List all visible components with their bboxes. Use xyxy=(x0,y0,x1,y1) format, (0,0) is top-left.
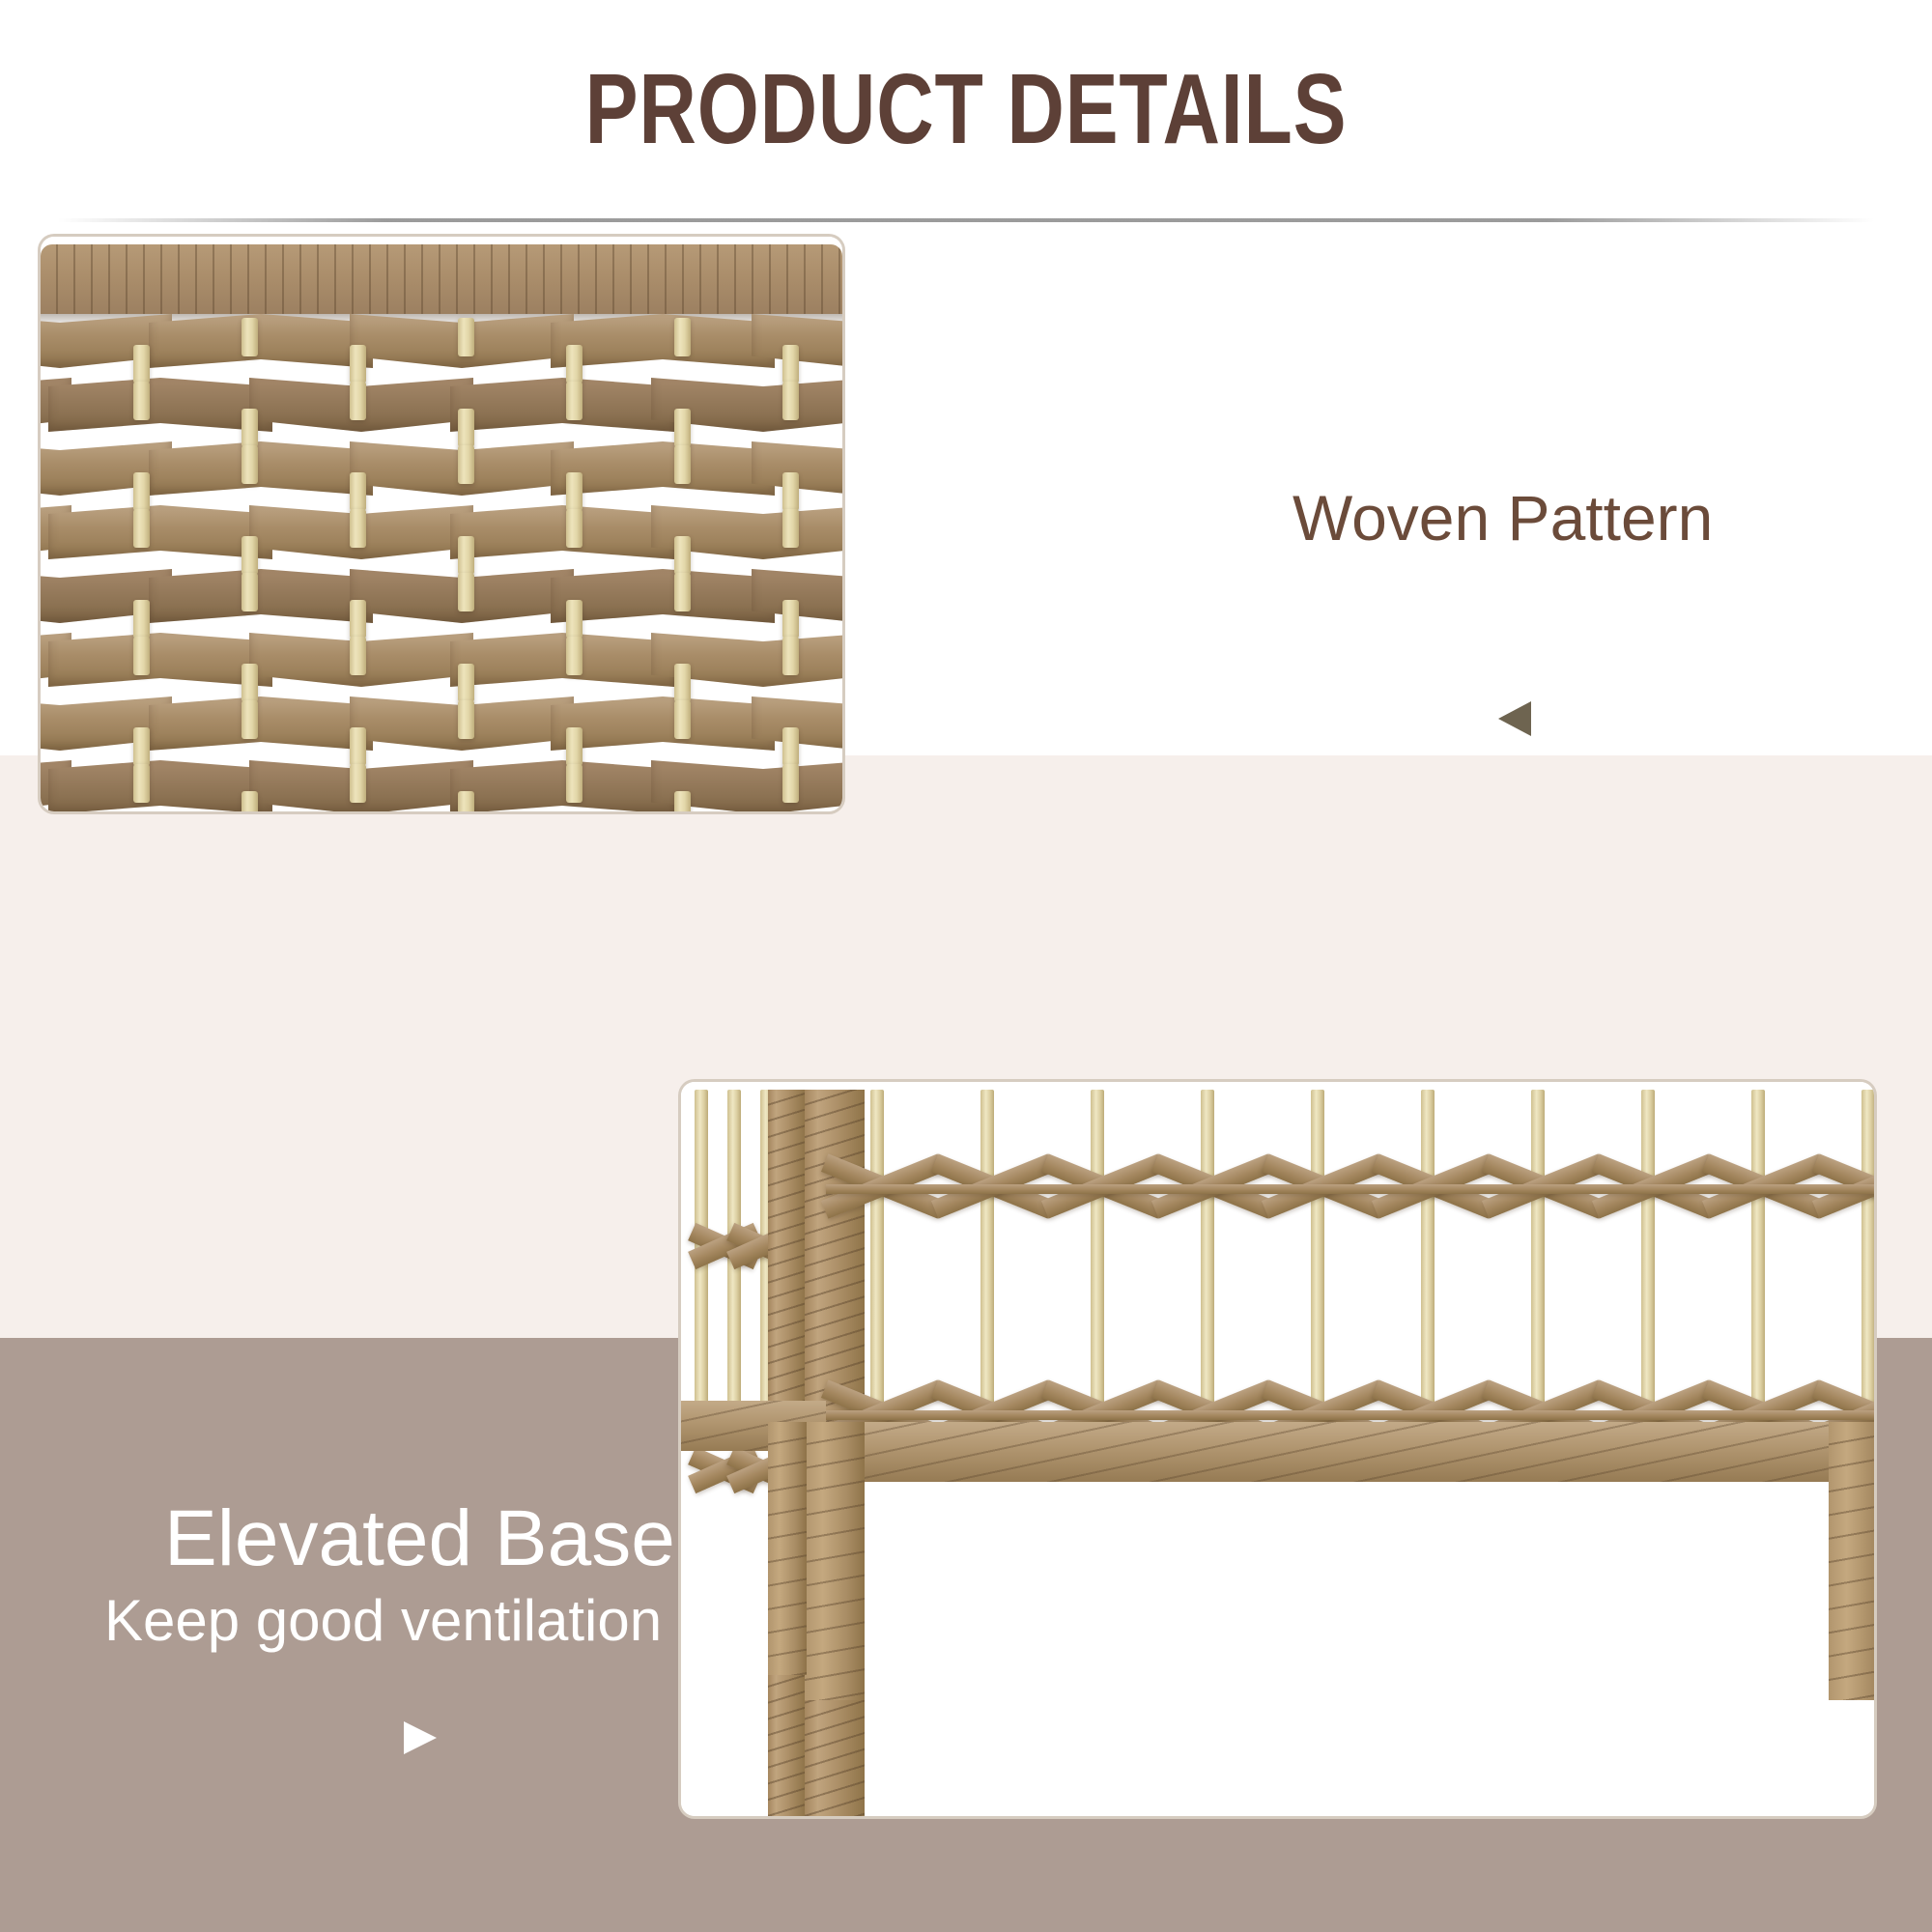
leg-back-left xyxy=(768,1422,807,1675)
weave-strand xyxy=(450,505,674,559)
front-panel-post xyxy=(1641,1090,1655,1430)
front-panel-post xyxy=(980,1090,994,1430)
weave-vertical-post xyxy=(241,573,258,611)
front-panel-post xyxy=(1091,1090,1104,1430)
front-panel-post xyxy=(1311,1090,1324,1430)
bottom-rail-front xyxy=(826,1422,1874,1482)
elevated-base-image xyxy=(681,1082,1874,1816)
weave-vertical-post xyxy=(133,764,150,803)
weave-strand xyxy=(149,569,373,623)
weave-vertical-post xyxy=(241,700,258,739)
front-panel-post xyxy=(1201,1090,1214,1430)
weave-vertical-post xyxy=(350,472,366,511)
weave-vertical-post xyxy=(566,472,582,511)
weave-vertical-post xyxy=(133,637,150,675)
weave-strand xyxy=(450,378,674,432)
weave-vertical-post xyxy=(241,664,258,702)
weave-row xyxy=(41,695,842,764)
weave-strand xyxy=(551,314,775,368)
weave-strand xyxy=(551,696,775,751)
weave-strand xyxy=(450,633,674,687)
weave-vertical-post xyxy=(674,573,691,611)
weave-vertical-post xyxy=(566,345,582,384)
weave-vertical-post xyxy=(241,536,258,575)
weave-vertical-post xyxy=(674,664,691,702)
weave-vertical-post xyxy=(133,600,150,639)
weave-strand xyxy=(48,633,272,687)
weave-vertical-post xyxy=(458,700,474,739)
weave-strand xyxy=(450,760,674,811)
leg-front-right xyxy=(1829,1422,1874,1700)
weave-vertical-post xyxy=(674,536,691,575)
weave-vertical-post xyxy=(566,509,582,548)
woven-pattern-image xyxy=(41,237,842,811)
weave-vertical-post xyxy=(782,764,799,803)
weave-vertical-post xyxy=(674,318,691,356)
front-panel-post xyxy=(870,1090,884,1430)
weave-strand xyxy=(551,441,775,496)
weave-vertical-post xyxy=(133,345,150,384)
weave-vertical-post xyxy=(350,509,366,548)
weave-vertical-post xyxy=(133,509,150,548)
weave-strand xyxy=(48,505,272,559)
weave-vertical-post xyxy=(782,509,799,548)
weave-row xyxy=(41,758,842,811)
weave-row xyxy=(41,312,842,382)
weave-vertical-post xyxy=(782,382,799,420)
weave-vertical-post xyxy=(350,600,366,639)
callout-woven-pattern-label: Woven Pattern xyxy=(1293,481,1713,554)
weave-vertical-post xyxy=(674,445,691,484)
weave-vertical-post xyxy=(458,445,474,484)
weave-vertical-post xyxy=(458,318,474,356)
callout-elevated-base-sublabel: Keep good ventilation xyxy=(104,1584,675,1657)
weave-vertical-post xyxy=(566,600,582,639)
page-title: PRODUCT DETAILS xyxy=(193,52,1739,166)
weave-vertical-post xyxy=(350,727,366,766)
lattice-horizontal-strand xyxy=(826,1184,1874,1194)
weave-vertical-post xyxy=(458,664,474,702)
weave-vertical-post xyxy=(782,637,799,675)
front-panel-post xyxy=(1421,1090,1435,1430)
weave-row xyxy=(41,440,842,509)
weave-vertical-post xyxy=(241,318,258,356)
weave-vertical-post xyxy=(566,764,582,803)
weave-strand xyxy=(48,378,272,432)
weave-vertical-post xyxy=(566,727,582,766)
weave-vertical-post xyxy=(133,727,150,766)
weave-vertical-post xyxy=(133,472,150,511)
weave-row xyxy=(41,376,842,445)
woven-pattern-illustration xyxy=(41,237,842,811)
weave-vertical-post xyxy=(458,409,474,447)
weave-vertical-post xyxy=(350,345,366,384)
title-divider xyxy=(58,218,1874,222)
weave-vertical-post xyxy=(350,764,366,803)
weave-vertical-post xyxy=(458,573,474,611)
weave-vertical-post xyxy=(566,382,582,420)
weave-vertical-post xyxy=(782,345,799,384)
weave-vertical-post xyxy=(241,445,258,484)
weave-strand xyxy=(149,441,373,496)
weave-vertical-post xyxy=(782,727,799,766)
weave-vertical-post xyxy=(674,791,691,811)
weave-row xyxy=(41,631,842,700)
arrow-left-icon xyxy=(1498,701,1531,736)
weave-strand xyxy=(48,760,272,811)
weave-vertical-post xyxy=(566,637,582,675)
callout-elevated-base: Elevated Base Keep good ventilation xyxy=(164,1499,675,1657)
weave-vertical-post xyxy=(674,700,691,739)
weave-vertical-post xyxy=(458,536,474,575)
weave-vertical-post xyxy=(133,382,150,420)
front-panel-post xyxy=(1531,1090,1545,1430)
weave-strand xyxy=(551,569,775,623)
weave-vertical-post xyxy=(458,791,474,811)
leg-front-left xyxy=(805,1422,865,1700)
lattice-bar xyxy=(826,1410,1874,1420)
weave-top-rail xyxy=(41,244,842,314)
weave-row xyxy=(41,503,842,573)
weave-row xyxy=(41,567,842,637)
weave-vertical-post xyxy=(241,791,258,811)
front-panel-post xyxy=(1751,1090,1765,1430)
weave-vertical-post xyxy=(674,409,691,447)
weave-vertical-post xyxy=(350,637,366,675)
lattice-horizontal-strand xyxy=(826,1410,1874,1420)
lattice-bar xyxy=(826,1184,1874,1194)
weave-vertical-post xyxy=(350,382,366,420)
weave-vertical-post xyxy=(241,409,258,447)
weave-strand xyxy=(149,696,373,751)
weave-vertical-post xyxy=(782,472,799,511)
callout-elevated-base-title: Elevated Base xyxy=(164,1499,675,1578)
weave-vertical-post xyxy=(782,600,799,639)
arrow-right-icon xyxy=(404,1721,437,1754)
weave-strand xyxy=(149,314,373,368)
elevated-base-illustration xyxy=(681,1082,1874,1816)
front-panel-post xyxy=(1861,1090,1874,1430)
